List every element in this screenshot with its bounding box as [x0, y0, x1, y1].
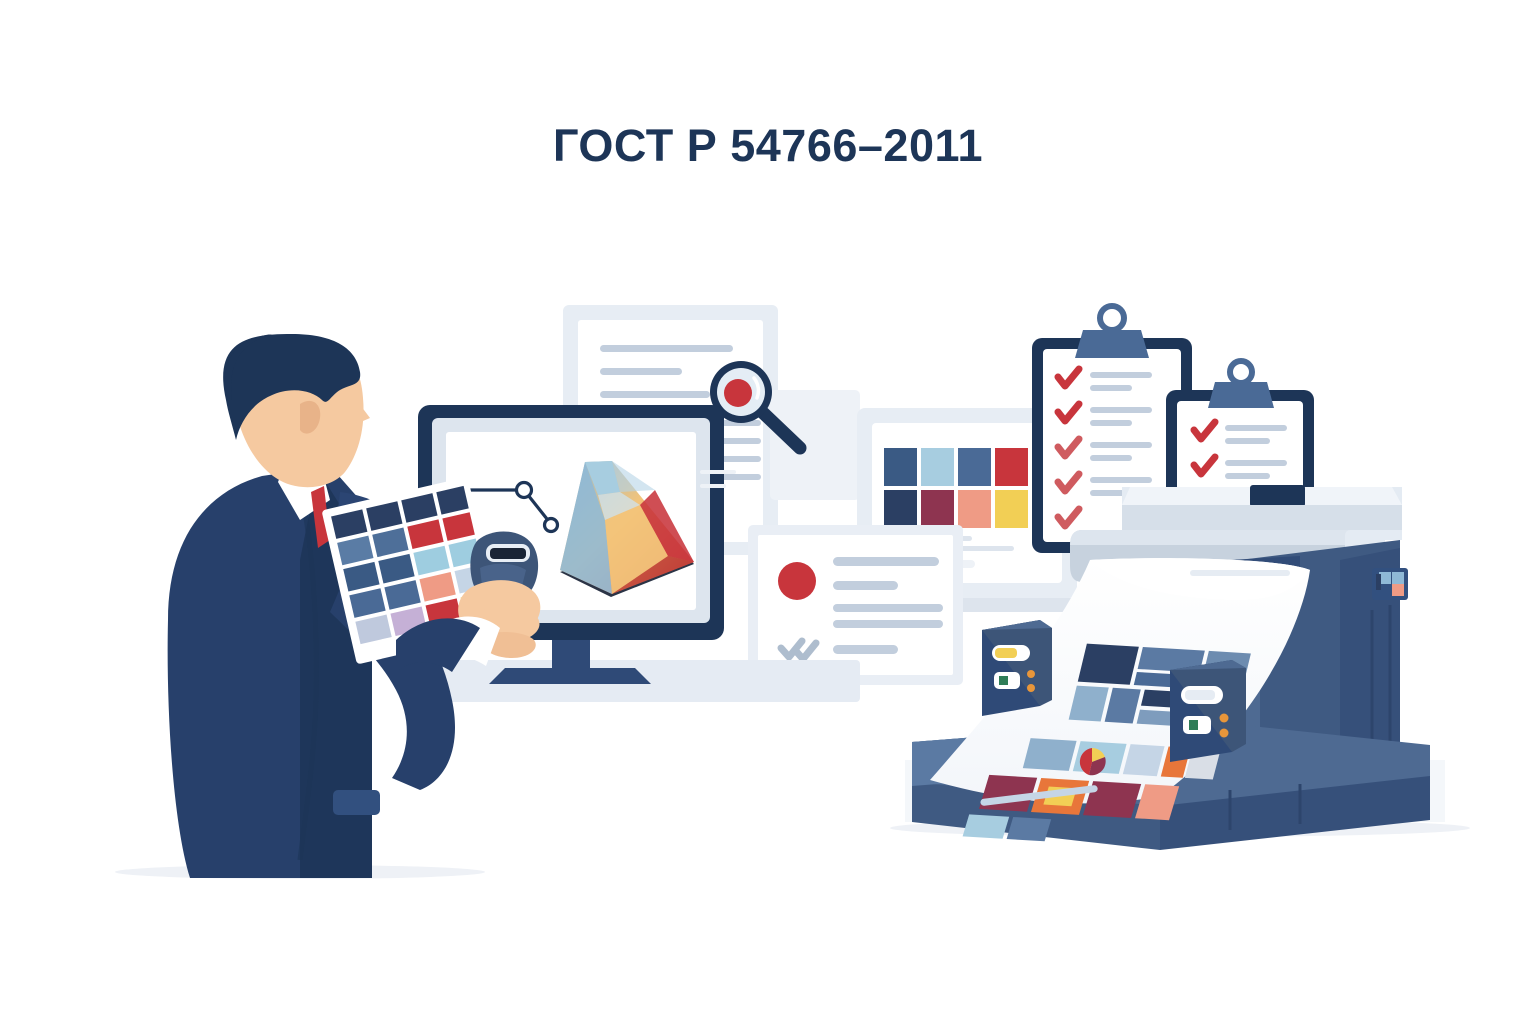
monitor-base [489, 668, 651, 684]
chart-node [545, 519, 558, 532]
sheet-patch [1078, 644, 1139, 685]
cert-line [833, 604, 943, 612]
illustration-canvas: ГОСТ Р 54766–2011 [0, 0, 1536, 1024]
doc-line [600, 345, 733, 352]
device-indicator [999, 676, 1008, 685]
palette-swatch [884, 448, 917, 486]
palette-swatch [995, 448, 1028, 486]
colorimeter-screen [490, 548, 526, 559]
palette-swatch [921, 448, 954, 486]
clipboard-clip [1075, 330, 1149, 358]
palette-swatch [884, 490, 917, 528]
cert-line [833, 645, 898, 654]
sheet-patch [1007, 817, 1052, 841]
cert-line [833, 620, 943, 628]
device-indicator [1189, 720, 1198, 730]
sheet-patch [963, 814, 1010, 838]
sheet-patch [1023, 738, 1077, 771]
spectrophotometer-left [982, 620, 1052, 716]
device-button [1220, 729, 1229, 738]
device-button [1027, 670, 1035, 678]
suit-pocket [333, 790, 380, 815]
palette-swatch [958, 448, 991, 486]
chart-node [517, 483, 532, 498]
device-screen [995, 648, 1017, 658]
device-button [1027, 684, 1035, 692]
palette-swatch [958, 490, 991, 528]
seal-dot [778, 562, 816, 600]
doc-line [600, 391, 710, 398]
page-title: ГОСТ Р 54766–2011 [0, 120, 1536, 172]
palette-swatch [921, 490, 954, 528]
doc-line [600, 368, 682, 375]
spectrophotometer-right [1170, 660, 1246, 762]
device-button [1220, 714, 1229, 723]
device-screen [1185, 690, 1215, 700]
cert-line [833, 557, 939, 566]
palette-swatch [995, 490, 1028, 528]
press-top-bracket [1250, 485, 1305, 507]
cert-line [833, 581, 898, 590]
